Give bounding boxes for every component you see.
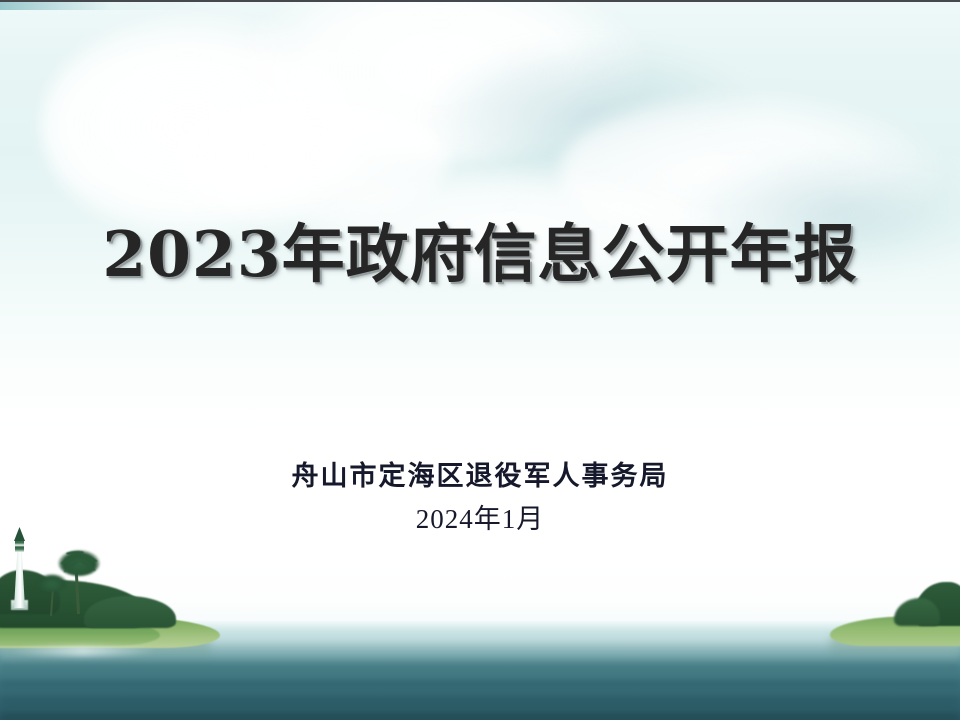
organization-name: 舟山市定海区退役军人事务局 xyxy=(0,457,960,497)
top-left-haze xyxy=(0,2,220,10)
title-slide: 2023年政府信息公开年报 舟山市定海区退役军人事务局 2024年1月 xyxy=(0,0,960,720)
publication-date: 2024年1月 xyxy=(0,499,960,539)
palm-tree-crown xyxy=(37,574,67,592)
shore-foam xyxy=(8,646,158,656)
subtitle-block: 舟山市定海区退役军人事务局 2024年1月 xyxy=(0,457,960,539)
slide-title: 2023年政府信息公开年报 xyxy=(0,214,960,294)
